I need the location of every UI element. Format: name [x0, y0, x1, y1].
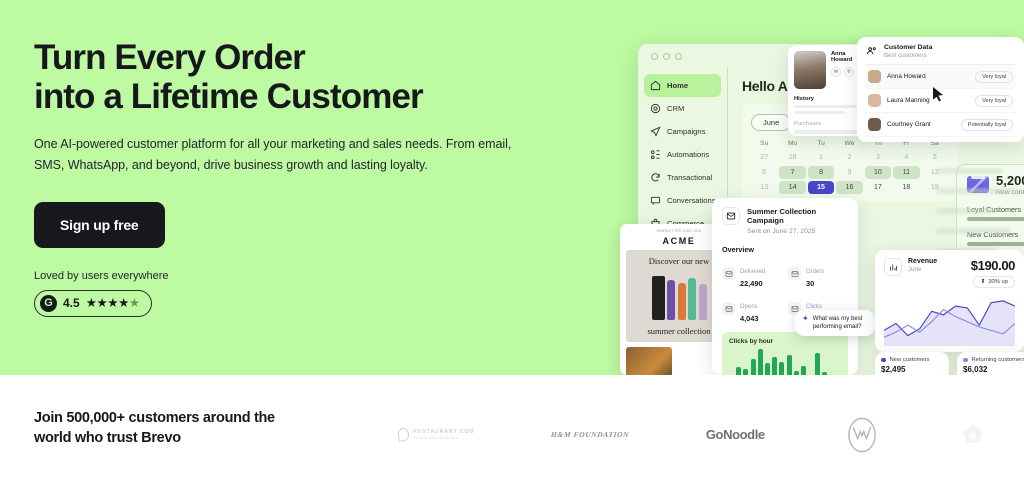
sidebar-item-conversations[interactable]: Conversations — [644, 189, 721, 212]
calendar-day[interactable]: 28 — [779, 151, 805, 164]
bar-column — [758, 349, 763, 375]
join-line-1: Join 500,000+ customers around the — [34, 410, 275, 426]
legend-dot — [881, 358, 886, 363]
social-proof-bar: Join 500,000+ customers around the world… — [0, 375, 1024, 494]
product-collage: Home CRM Campaigns Automations — [620, 0, 1024, 375]
sidebar-item-transactional[interactable]: Transactional — [644, 166, 721, 189]
calendar-day[interactable]: 16 — [836, 181, 862, 194]
bar-column — [736, 367, 741, 375]
legend-value: $2,495 — [881, 365, 943, 374]
calendar-weekday: Tu — [808, 138, 834, 149]
email-hero-line-1: Discover our new — [649, 256, 709, 266]
calendar-day[interactable]: 14 — [779, 181, 805, 194]
calendar-day[interactable]: 11 — [893, 166, 919, 179]
revenue-period: June — [908, 266, 937, 273]
customer-panel-title: Customer Data — [884, 44, 932, 51]
calendar-day[interactable]: 13 — [751, 181, 777, 194]
sign-up-free-button[interactable]: Sign up free — [34, 202, 165, 248]
open-envelope-icon — [722, 302, 735, 315]
calendar-day[interactable]: 27 — [751, 151, 777, 164]
chart-icon — [884, 258, 902, 276]
email-icon — [722, 207, 740, 225]
avatar — [868, 118, 881, 131]
bar-column — [801, 366, 806, 375]
automation-icon — [650, 149, 661, 160]
hero-subcopy: One AI-powered customer platform for all… — [34, 134, 534, 175]
g2-icon: G — [40, 295, 57, 312]
calendar-day[interactable]: 2 — [836, 151, 862, 164]
page-root: Turn Every Order into a Lifetime Custome… — [0, 0, 1024, 494]
sidebar-label: Campaigns — [667, 127, 705, 136]
calendar-day[interactable]: 17 — [865, 181, 891, 194]
ai-prompt-bubble[interactable]: ✦ What was my best performing email? — [795, 310, 875, 336]
bag-icon — [788, 267, 801, 280]
hm-foundation-logo: H&M FOUNDATION — [551, 430, 630, 439]
sidebar-item-crm[interactable]: CRM — [644, 97, 721, 120]
customer-name: Anna Howard — [887, 73, 969, 80]
campaign-sent-label: Sent on June 27, 2025 — [747, 228, 848, 235]
metric-value: 4,043 — [740, 314, 759, 323]
sidebar-label: Home — [667, 81, 688, 90]
revenue-amount: $190.00 — [971, 258, 1015, 273]
calendar-day[interactable]: 3 — [865, 151, 891, 164]
revenue-card: Revenue June $190.00 ⬆ 30% up — [875, 250, 1024, 352]
overview-label: Overview — [722, 245, 848, 254]
revenue-delta-badge: ⬆ 30% up — [973, 276, 1015, 288]
metric-cell: Opens4,043 — [722, 295, 782, 323]
sidebar-label: Transactional — [667, 173, 712, 182]
bar-chart-bars — [729, 349, 841, 375]
home-icon — [650, 80, 661, 91]
bar-column — [779, 362, 784, 375]
calendar-weekday: Su — [751, 138, 777, 149]
calendar-grid: SuMoTuWeThFrSa27281234567891011121314151… — [751, 138, 948, 194]
metric-value: 22,490 — [740, 279, 765, 288]
headline-line-2: into a Lifetime Customer — [34, 77, 574, 116]
ai-prompt-text: What was my best performing email? — [813, 315, 868, 331]
metric-cell: Delivered22,490 — [722, 260, 782, 288]
avatar — [794, 51, 826, 89]
send-icon — [650, 126, 661, 137]
avatar — [868, 70, 881, 83]
chat-icon — [650, 195, 661, 206]
bar-column — [815, 353, 820, 375]
restaurant-mark-icon — [397, 427, 410, 442]
sidebar-label: Conversations — [667, 196, 716, 205]
product-tubes — [652, 272, 707, 320]
revenue-line-chart — [884, 294, 1015, 346]
calendar-day[interactable]: 15 — [808, 181, 834, 194]
calendar-day[interactable]: 5 — [922, 151, 948, 164]
legend-dot — [963, 358, 968, 363]
legend-label: New customers — [890, 357, 930, 363]
customer-name: Courtney Grant — [887, 121, 955, 128]
calendar-day[interactable]: 9 — [836, 166, 862, 179]
bar-column — [765, 363, 770, 375]
window-dot-maximize[interactable] — [675, 53, 682, 60]
join-line-2: world who trust Brevo — [34, 430, 181, 446]
mail-icon[interactable]: ✉ — [831, 67, 841, 77]
refresh-icon — [650, 172, 661, 183]
sidebar-label: Automations — [667, 150, 709, 159]
profile-purchases-label: Purchases — [794, 121, 865, 127]
bar-column — [787, 355, 792, 375]
legend-label: Returning customers — [972, 357, 1024, 363]
calendar-day[interactable]: 7 — [779, 166, 805, 179]
sidebar-item-campaigns[interactable]: Campaigns — [644, 120, 721, 143]
envelope-icon — [722, 267, 735, 280]
avatar — [868, 94, 881, 107]
calendar-month-button[interactable]: June — [751, 114, 791, 131]
restaurant-com-logo: RESTAURANT.COM Food at your fingertips — [398, 428, 474, 441]
customer-panel-subtitle: Best customers — [884, 52, 932, 59]
metric-value: 30 — [806, 279, 824, 288]
revenue-title: Revenue — [908, 258, 937, 265]
loyalty-tag: Very loyal — [975, 71, 1013, 83]
revenue-delta-value: 30% up — [988, 279, 1008, 285]
metric-key: Opens — [740, 304, 758, 310]
volkswagen-logo — [841, 414, 883, 456]
page-title: Turn Every Order into a Lifetime Custome… — [34, 38, 574, 116]
email-item-image — [626, 347, 672, 375]
sidebar-label: CRM — [667, 104, 684, 113]
bar-column — [772, 357, 777, 375]
metric-key: Orders — [806, 269, 824, 275]
loved-by-users-label: Loved by users everywhere — [34, 270, 574, 282]
legend-card-returning-customers: Returning customers $6,032 — [957, 352, 1024, 375]
calendar-day[interactable]: 1 — [808, 151, 834, 164]
customer-row[interactable]: Courtney GrantPotentially loyal — [865, 113, 1016, 137]
calendar-weekday: Mo — [779, 138, 805, 149]
calendar-day[interactable]: 6 — [751, 166, 777, 179]
legend-card-new-customers: New customers $2,495 — [875, 352, 949, 375]
logo-text-primary: RESTAURANT.COM — [413, 429, 474, 435]
hero-copy: Turn Every Order into a Lifetime Custome… — [34, 38, 574, 317]
metric-key: Delivered — [740, 269, 765, 275]
calendar-day[interactable]: 8 — [808, 166, 834, 179]
window-dot-close[interactable] — [651, 53, 658, 60]
email-hero-line-2: summer collection — [647, 326, 710, 336]
clicks-chart-title: Clicks by hour — [729, 338, 841, 345]
sidebar-item-automations[interactable]: Automations — [644, 143, 721, 166]
legend-value: $6,032 — [963, 365, 1024, 374]
gonoodle-logo: GoNoodle — [706, 427, 765, 442]
loyalty-tag: Potentially loyal — [961, 119, 1013, 131]
g2-rating-badge[interactable]: G 4.5 ★★★★★ — [34, 290, 152, 317]
calendar-weekday: We — [836, 138, 862, 149]
customer-name: Laura Manning — [887, 97, 969, 104]
hero-section: Turn Every Order into a Lifetime Custome… — [0, 0, 1024, 375]
mouse-cursor-icon — [932, 86, 945, 107]
logo-text-secondary: Food at your fingertips — [413, 436, 474, 440]
phone-icon[interactable]: ✆ — [844, 67, 854, 77]
sidebar-item-home[interactable]: Home — [644, 74, 721, 97]
bar-column — [751, 359, 756, 375]
metric-cell: Orders30 — [788, 260, 848, 288]
calendar-day[interactable]: 18 — [893, 181, 919, 194]
join-customers-text: Join 500,000+ customers around the world… — [34, 408, 314, 448]
customer-logo-strip: RESTAURANT.COM Food at your fingertips H… — [360, 375, 1024, 494]
rating-stars: ★★★★★ — [86, 297, 140, 310]
campaign-title: Summer Collection Campaign — [747, 207, 848, 226]
calendar-day[interactable]: 4 — [893, 151, 919, 164]
loyalty-tag: Very loyal — [975, 95, 1013, 107]
sparkle-icon: ✦ — [802, 315, 809, 324]
trend-up-icon: ⬆ — [980, 279, 985, 285]
calendar-day[interactable]: 10 — [865, 166, 891, 179]
window-dot-minimize[interactable] — [663, 53, 670, 60]
rating-value: 4.5 — [63, 296, 80, 310]
campaign-card: Summer Collection Campaign Sent on June … — [712, 198, 858, 375]
clicks-by-hour-chart: Clicks by hour — [722, 332, 848, 375]
faded-logo — [960, 422, 986, 448]
people-icon — [865, 44, 878, 57]
profile-history-label: History — [794, 96, 865, 102]
contacts-icon — [650, 103, 661, 114]
headline-line-1: Turn Every Order — [34, 38, 305, 77]
